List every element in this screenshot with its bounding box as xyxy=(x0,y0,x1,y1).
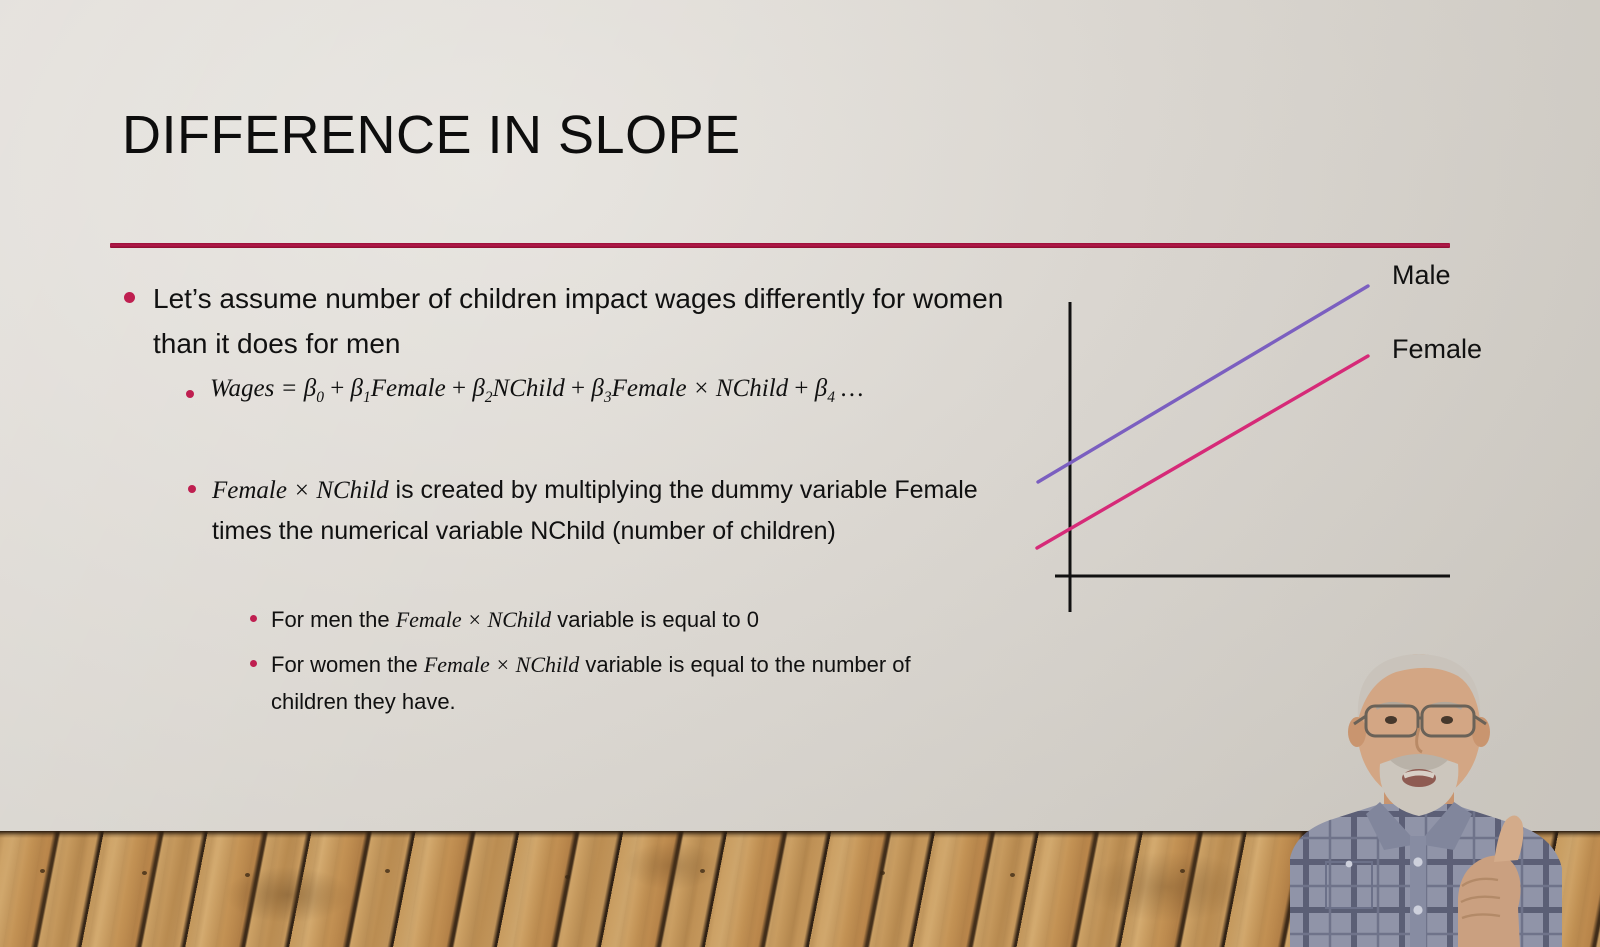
presenter-head xyxy=(1348,654,1490,816)
page-title: DIFFERENCE IN SLOPE xyxy=(122,104,741,166)
shirt-placket xyxy=(1410,836,1426,947)
math-term: Female × NChild xyxy=(212,477,389,504)
list-item: For men the Female × NChild variable is … xyxy=(250,602,990,639)
bullet-text: Female × NChild is created by multiplyin… xyxy=(212,470,1018,553)
bullet-text-prefix: For women the xyxy=(271,652,424,677)
floor-nail xyxy=(700,869,705,873)
list-item: Female × NChild is created by multiplyin… xyxy=(188,470,1018,553)
floor-nail xyxy=(565,875,570,879)
shirt-button xyxy=(1413,905,1422,914)
floor-nail xyxy=(40,869,45,873)
lecture-video-frame: DIFFERENCE IN SLOPE Let’s assume number … xyxy=(0,0,1600,947)
presenter-figure xyxy=(1262,636,1600,947)
bullet-text-prefix: For men the xyxy=(271,607,396,632)
math-term: Female × NChild xyxy=(424,652,579,677)
math-term: Female × NChild xyxy=(396,607,551,632)
shirt-button xyxy=(1413,857,1422,866)
equation-term-2: β2NChild xyxy=(472,375,564,402)
series-label-female: Female xyxy=(1392,334,1482,365)
floor-nail xyxy=(245,873,250,877)
floor-nail xyxy=(1180,869,1185,873)
eye-right xyxy=(1441,716,1453,724)
bullet-text: For men the Female × NChild variable is … xyxy=(271,602,759,639)
floor-nail xyxy=(142,871,147,875)
bullet-dot-icon xyxy=(188,485,196,493)
equation-term-1: β1Female xyxy=(351,375,446,402)
floor-nail xyxy=(385,869,390,873)
chart-svg xyxy=(1010,250,1510,630)
floor-nail xyxy=(1010,873,1015,877)
equation-lhs: Wages = xyxy=(210,375,304,402)
regression-equation: Wages = β0 + β1Female + β2NChild + β3Fem… xyxy=(210,375,863,407)
list-item: Let’s assume number of children impact w… xyxy=(124,276,1024,367)
list-item-equation: Wages = β0 + β1Female + β2NChild + β3Fem… xyxy=(186,375,1016,407)
bullet-dot-icon xyxy=(250,615,257,622)
bullet-text: Let’s assume number of children impact w… xyxy=(153,276,1024,367)
bullet-dot-icon xyxy=(124,292,135,303)
bullet-dot-icon xyxy=(250,660,257,667)
floor-nail xyxy=(880,871,885,875)
pocket-button xyxy=(1346,861,1353,868)
presenter-video-overlay xyxy=(1262,636,1600,947)
series-label-male: Male xyxy=(1392,260,1451,291)
equation-term-0: β0 xyxy=(304,375,324,402)
bullet-text-suffix: variable is equal to 0 xyxy=(551,607,759,632)
equation-term-3: β3Female × NChild xyxy=(591,375,788,402)
slope-comparison-chart: Male Female xyxy=(1010,250,1510,630)
equation-term-4: β4 … xyxy=(815,375,864,402)
title-divider-rule xyxy=(110,243,1450,248)
list-item: For women the Female × NChild variable i… xyxy=(250,647,990,720)
eye-left xyxy=(1385,716,1397,724)
bullet-text: For women the Female × NChild variable i… xyxy=(271,647,990,720)
bullet-dot-icon xyxy=(186,390,194,398)
